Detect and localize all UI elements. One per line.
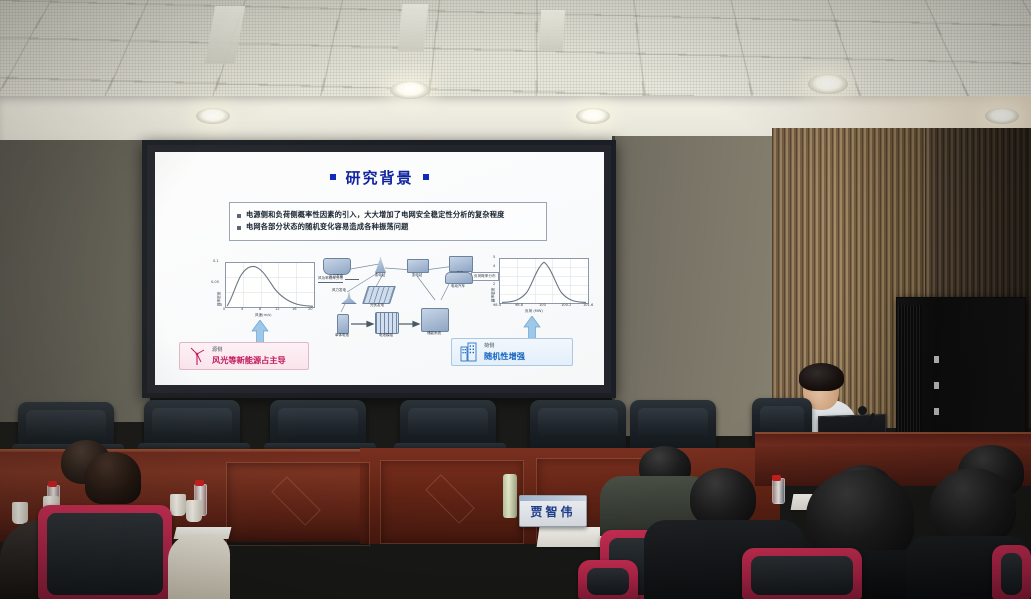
- chart-svg: [226, 263, 314, 307]
- callout-source-value: 风光等新能源占主导: [212, 354, 286, 366]
- callout-load-value: 随机性增强: [484, 350, 525, 362]
- building-icon: [460, 342, 478, 362]
- ceiling-troffer-light: [397, 4, 428, 52]
- downlight-icon: [808, 74, 848, 94]
- grid-node-label: 单体电池: [327, 333, 357, 338]
- bullet-text: 电网各部分状态的随机变化容易造成各种振荡问题: [246, 222, 409, 231]
- user-building-icon: [449, 256, 473, 272]
- chart-xlabel: 风速(m/s): [255, 313, 272, 318]
- ceiling-troffer-light: [539, 10, 565, 50]
- electric-vehicle-icon: [445, 272, 473, 284]
- chart-ytick: 0.05: [211, 280, 219, 284]
- rack-indicator-icon: [934, 382, 939, 389]
- water-bottle-cap: [772, 475, 781, 481]
- callout-load-text: 荷侧 随机性增强: [484, 342, 525, 362]
- presentation-room-photo: 研究背景 电源侧和负荷侧概率性因素的引入，大大增加了电网安全稳定性分析的复杂程度…: [0, 0, 1031, 599]
- grid-node-label: 电动汽车: [441, 284, 475, 289]
- wind-turbine-icon: [188, 346, 206, 366]
- bullet-row: 电网各部分状态的随机变化容易造成各种振荡问题: [237, 222, 539, 231]
- grid-node-label: 火力发电: [319, 274, 353, 279]
- water-bottle[interactable]: [772, 478, 785, 504]
- callout-source-text: 源侧 风光等新能源占主导: [212, 346, 286, 366]
- power-grid-diagram: 火力发电 变电站 变电站 用户 电动汽车 风力发电 光伏发电: [305, 256, 495, 344]
- audience-head: [85, 452, 141, 504]
- water-bottle-cap: [195, 480, 204, 486]
- presentation-slide: 研究背景 电源侧和负荷侧概率性因素的引入，大大增加了电网安全稳定性分析的复杂程度…: [155, 152, 604, 385]
- nameplate-header-bar: [520, 496, 586, 501]
- rack-indicator-icon: [934, 408, 939, 415]
- battery-cell-icon: [337, 314, 349, 334]
- thermos-bottle[interactable]: [503, 474, 517, 518]
- chart-xtick: 0: [223, 307, 225, 311]
- callout-load-label: 荷侧: [484, 342, 525, 349]
- water-bottle-cap: [48, 481, 57, 487]
- slide-title: 研究背景: [155, 167, 604, 188]
- bullet-square-icon: [237, 214, 241, 218]
- grid-node-label: 电池模组: [369, 333, 403, 338]
- paper-cup[interactable]: [186, 500, 202, 522]
- bullet-text: 电源侧和负荷侧概率性因素的引入，大大增加了电网安全稳定性分析的复杂程度: [246, 210, 505, 219]
- audience-chair[interactable]: [38, 505, 172, 599]
- audience-chair[interactable]: [992, 545, 1031, 599]
- chart-load-distribution: 概率密度 5 4 3 2 1: [485, 256, 593, 318]
- chart-ytick: 0: [220, 303, 222, 307]
- presenter-hair: [799, 363, 844, 391]
- downlight-icon: [196, 108, 230, 124]
- audience-head: [690, 468, 756, 528]
- chart-xlabel: 负荷 (MW): [525, 309, 543, 314]
- chart-plot-area: [499, 258, 589, 304]
- grid-node-label: 变电站: [401, 273, 433, 278]
- pv-panel-icon: [362, 286, 396, 304]
- transformer-icon: [407, 259, 429, 273]
- chart-xtick: 4: [241, 307, 243, 311]
- chart-xtick: 16: [292, 307, 297, 311]
- downlight-icon: [390, 81, 430, 99]
- grid-node-label: 风力发电: [325, 288, 353, 293]
- chart-xtick: 8: [259, 307, 261, 311]
- callout-load-side: 荷侧 随机性增强: [451, 338, 573, 366]
- paper-cup[interactable]: [12, 502, 28, 524]
- grid-node-label: 光伏发电: [363, 303, 391, 308]
- slide-title-text: 研究背景: [345, 169, 413, 187]
- battery-module-icon: [375, 312, 399, 334]
- left-wall: [0, 140, 150, 422]
- chart-svg: [500, 259, 588, 303]
- chart-xtick: 100: [539, 303, 546, 307]
- grid-node-label: 储能系统: [417, 331, 451, 336]
- paper-cup[interactable]: [170, 494, 186, 516]
- bullet-square-icon: [237, 226, 241, 230]
- nameplate: 贾智伟: [519, 495, 587, 527]
- callout-source-side: 源侧 风光等新能源占主导: [179, 342, 309, 370]
- title-square-right-icon: [423, 174, 429, 180]
- chart-xtick: 12: [275, 307, 280, 311]
- grid-node-label: 变电站: [367, 273, 393, 278]
- audience-chair[interactable]: [742, 548, 862, 599]
- chart-ytick: 0.1: [213, 259, 219, 263]
- chart-xtick: 98.8: [515, 303, 523, 307]
- nameplate-text: 贾智伟: [530, 503, 575, 520]
- projection-screen[interactable]: 研究背景 电源侧和负荷侧概率性因素的引入，大大增加了电网安全稳定性分析的复杂程度…: [142, 140, 616, 398]
- bullet-row: 电源侧和负荷侧概率性因素的引入，大大增加了电网安全稳定性分析的复杂程度: [237, 210, 539, 219]
- audience-coat: [168, 534, 230, 599]
- audience-head: [930, 468, 1016, 546]
- callout-source-label: 源侧: [212, 346, 286, 353]
- storage-system-icon: [421, 308, 449, 332]
- slide-bullet-box: 电源侧和负荷侧概率性因素的引入，大大增加了电网安全稳定性分析的复杂程度 电网各部…: [229, 202, 547, 241]
- chart-xtick: 101.6: [583, 303, 593, 307]
- downlight-icon: [576, 108, 610, 124]
- audience-chair[interactable]: [578, 560, 638, 599]
- thermal-plant-icon: [323, 258, 351, 275]
- chart-wind-speed-distribution: 概率密度 0.1 0.05 0 0 4 8: [211, 260, 319, 322]
- rack-indicator-icon: [934, 356, 939, 363]
- microphone-head-icon: [858, 406, 867, 415]
- chart-xtick: 100.2: [561, 303, 571, 307]
- title-square-left-icon: [330, 174, 336, 180]
- chart-plot-area: [225, 262, 315, 308]
- downlight-icon: [985, 108, 1019, 124]
- center-wall: [612, 136, 777, 436]
